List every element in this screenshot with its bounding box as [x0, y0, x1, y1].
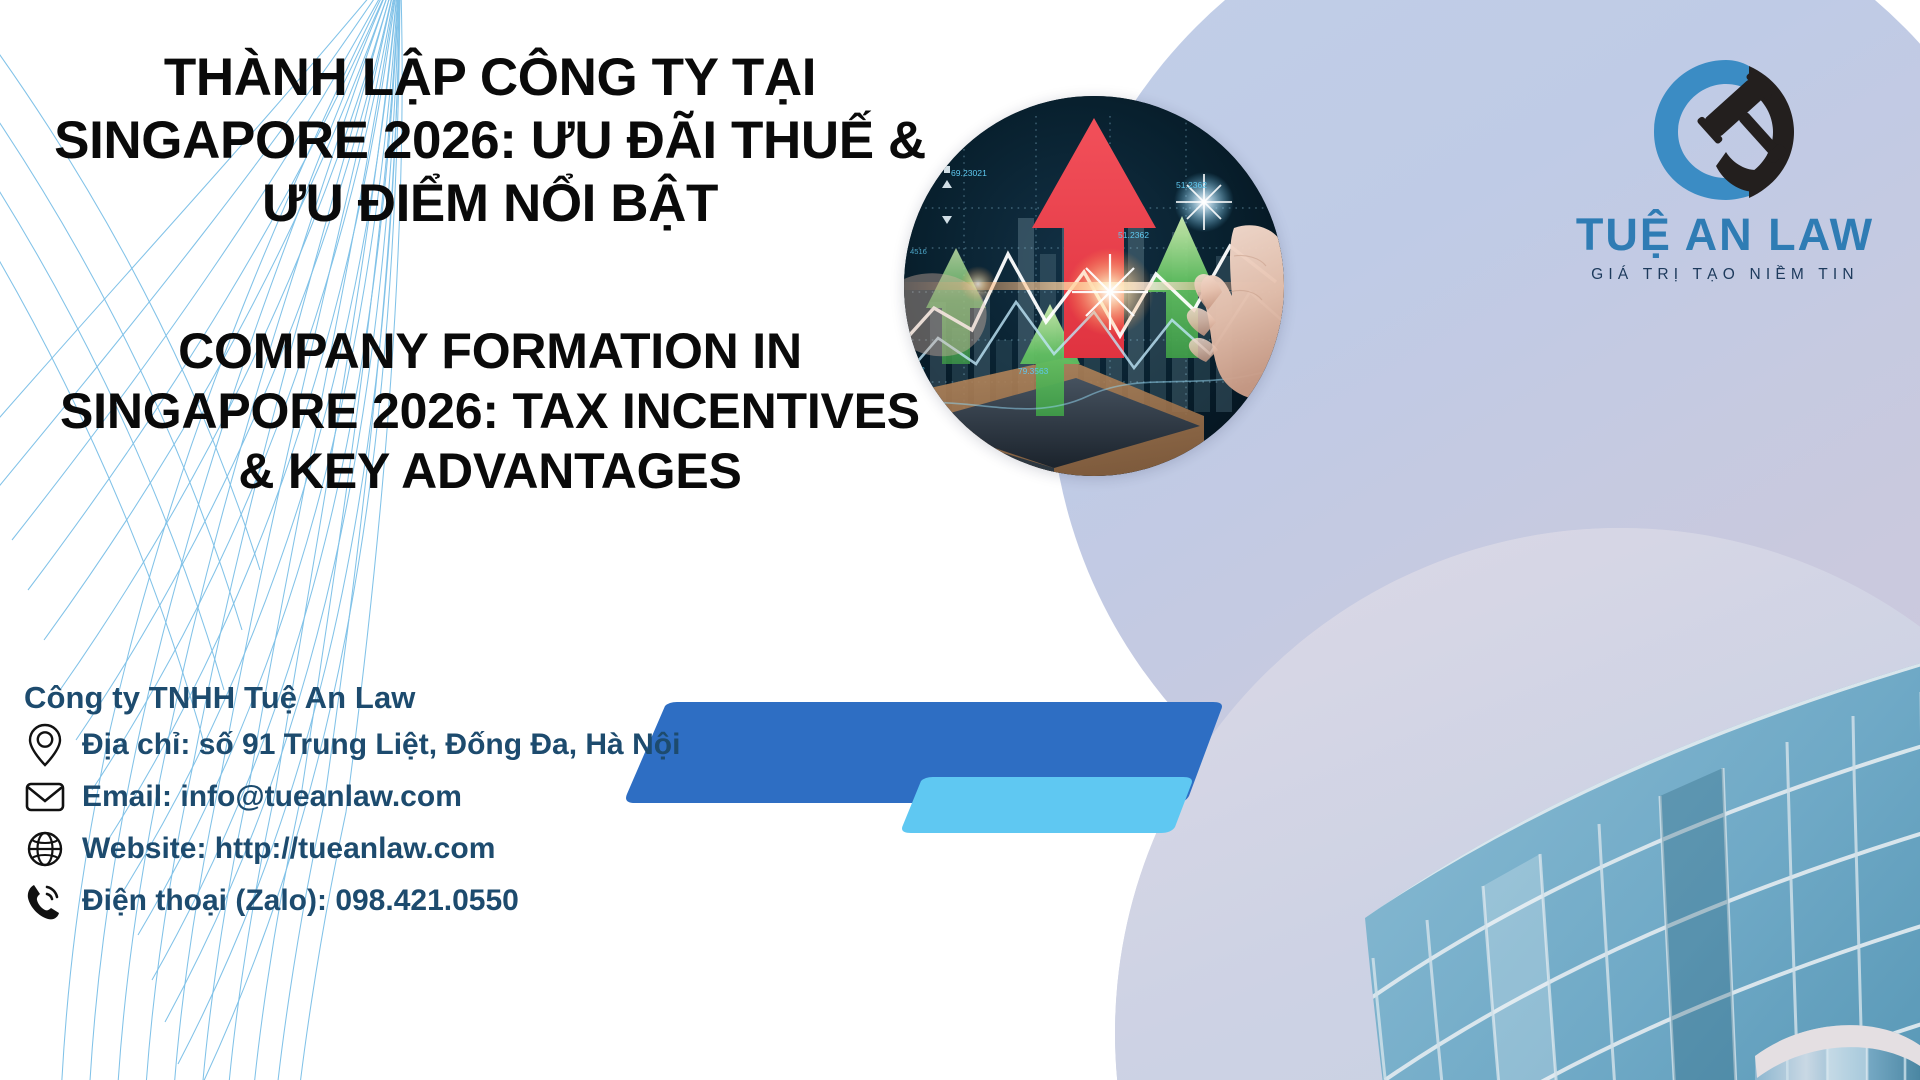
contact-row-email[interactable]: Email: info@tueanlaw.com: [22, 774, 680, 820]
company-name: Công ty TNHH Tuệ An Law: [22, 680, 680, 716]
headline-english: COMPANY FORMATION IN SINGAPORE 2026: TAX…: [0, 321, 980, 501]
address-text: Địa chỉ: số 91 Trung Liệt, Đống Đa, Hà N…: [82, 728, 680, 762]
website-text: Website: http://tueanlaw.com: [82, 832, 495, 866]
phone-icon: [22, 878, 68, 924]
contact-row-website[interactable]: Website: http://tueanlaw.com: [22, 826, 680, 872]
svg-text:51.2362: 51.2362: [1118, 230, 1149, 240]
gavel-crescent-icon: [1630, 48, 1820, 208]
brand-logo[interactable]: TUỆ AN LAW GIÁ TRỊ TẠO NIỀM TIN: [1545, 48, 1905, 284]
banner-shape-light: [893, 775, 1203, 835]
contact-row-address: Địa chỉ: số 91 Trung Liệt, Đống Đa, Hà N…: [22, 722, 680, 768]
location-pin-icon: [22, 722, 68, 768]
phone-text: Điện thoại (Zalo): 098.421.0550: [82, 884, 519, 918]
glass-office-building-photo: [1115, 528, 1920, 1080]
email-text: Email: info@tueanlaw.com: [82, 780, 462, 814]
svg-text:79.3563: 79.3563: [1018, 366, 1049, 376]
globe-icon: [22, 826, 68, 872]
svg-text:51.2362: 51.2362: [1176, 180, 1207, 190]
contact-block: Công ty TNHH Tuệ An Law Địa chỉ: số 91 T…: [22, 680, 680, 924]
contact-row-phone[interactable]: Điện thoại (Zalo): 098.421.0550: [22, 878, 680, 924]
envelope-icon: [22, 774, 68, 820]
logo-wordmark: TUỆ AN LAW: [1545, 212, 1905, 257]
logo-tagline: GIÁ TRỊ TẠO NIỀM TIN: [1545, 266, 1905, 284]
poster-canvas: 69.23021 51.2362 51.2362 79.3563 4516 27…: [0, 0, 1920, 1080]
headline-block: THÀNH LẬP CÔNG TY TẠI SINGAPORE 2026: ƯU…: [0, 46, 980, 501]
headline-vietnamese: THÀNH LẬP CÔNG TY TẠI SINGAPORE 2026: ƯU…: [0, 46, 980, 235]
